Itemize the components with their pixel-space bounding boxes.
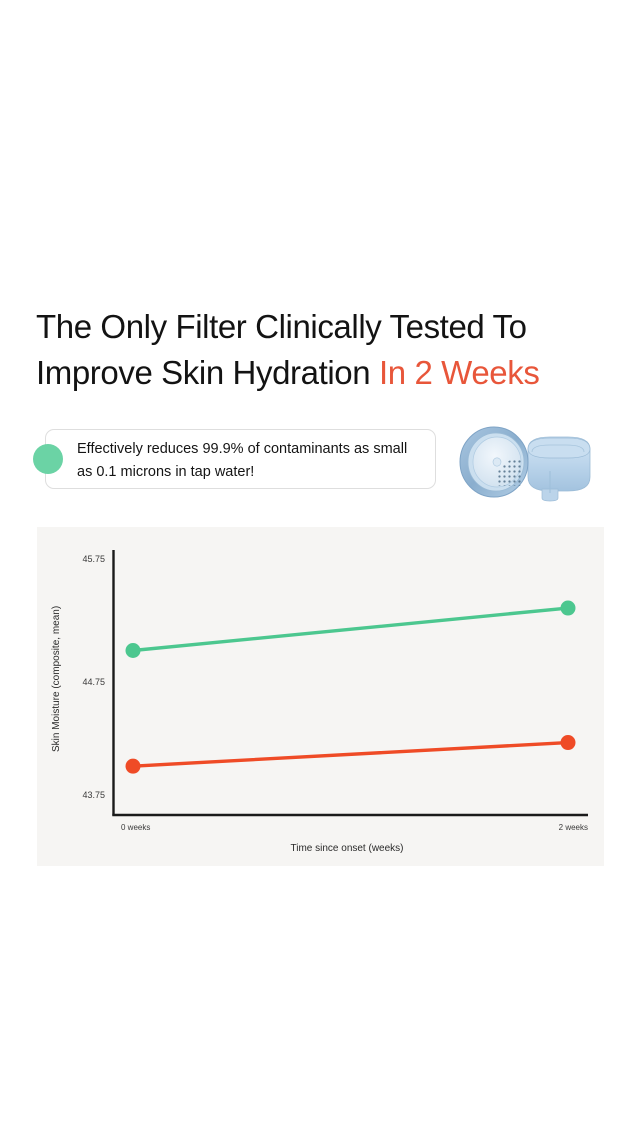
claim-callout-box: Effectively reduces 99.9% of contaminant… (45, 429, 436, 489)
chart-panel: Skin Moisture (composite, mean) 45.75 44… (37, 527, 604, 866)
y-tick-label: 43.75 (82, 790, 105, 800)
y-tick-label: 45.75 (82, 554, 105, 564)
data-point (561, 601, 576, 616)
data-point (126, 759, 141, 774)
series-treatment (126, 601, 576, 658)
x-axis-title: Time since onset (weeks) (291, 843, 404, 854)
y-axis-title: Skin Moisture (composite, mean) (51, 606, 62, 752)
series-control-line (133, 743, 568, 767)
x-tick-label: 0 weeks (121, 823, 150, 832)
headline-line-2-main: Improve Skin Hydration (36, 354, 379, 391)
x-tick-label: 2 weeks (559, 823, 588, 832)
headline-line-1: The Only Filter Clinically Tested To (36, 308, 527, 345)
claim-text: Effectively reduces 99.9% of contaminant… (77, 438, 425, 484)
series-control (126, 735, 576, 774)
skin-moisture-line-chart: Skin Moisture (composite, mean) 45.75 44… (37, 527, 604, 866)
data-point (126, 643, 141, 658)
headline-accent: In 2 Weeks (379, 354, 539, 391)
page-headline: The Only Filter Clinically Tested To Imp… (36, 304, 596, 396)
series-treatment-line (133, 608, 568, 650)
bullet-dot-icon (33, 444, 63, 474)
y-tick-label: 44.75 (82, 677, 105, 687)
shower-filter-cartridge-icon (452, 419, 600, 505)
product-image (452, 419, 600, 505)
data-point (561, 735, 576, 750)
